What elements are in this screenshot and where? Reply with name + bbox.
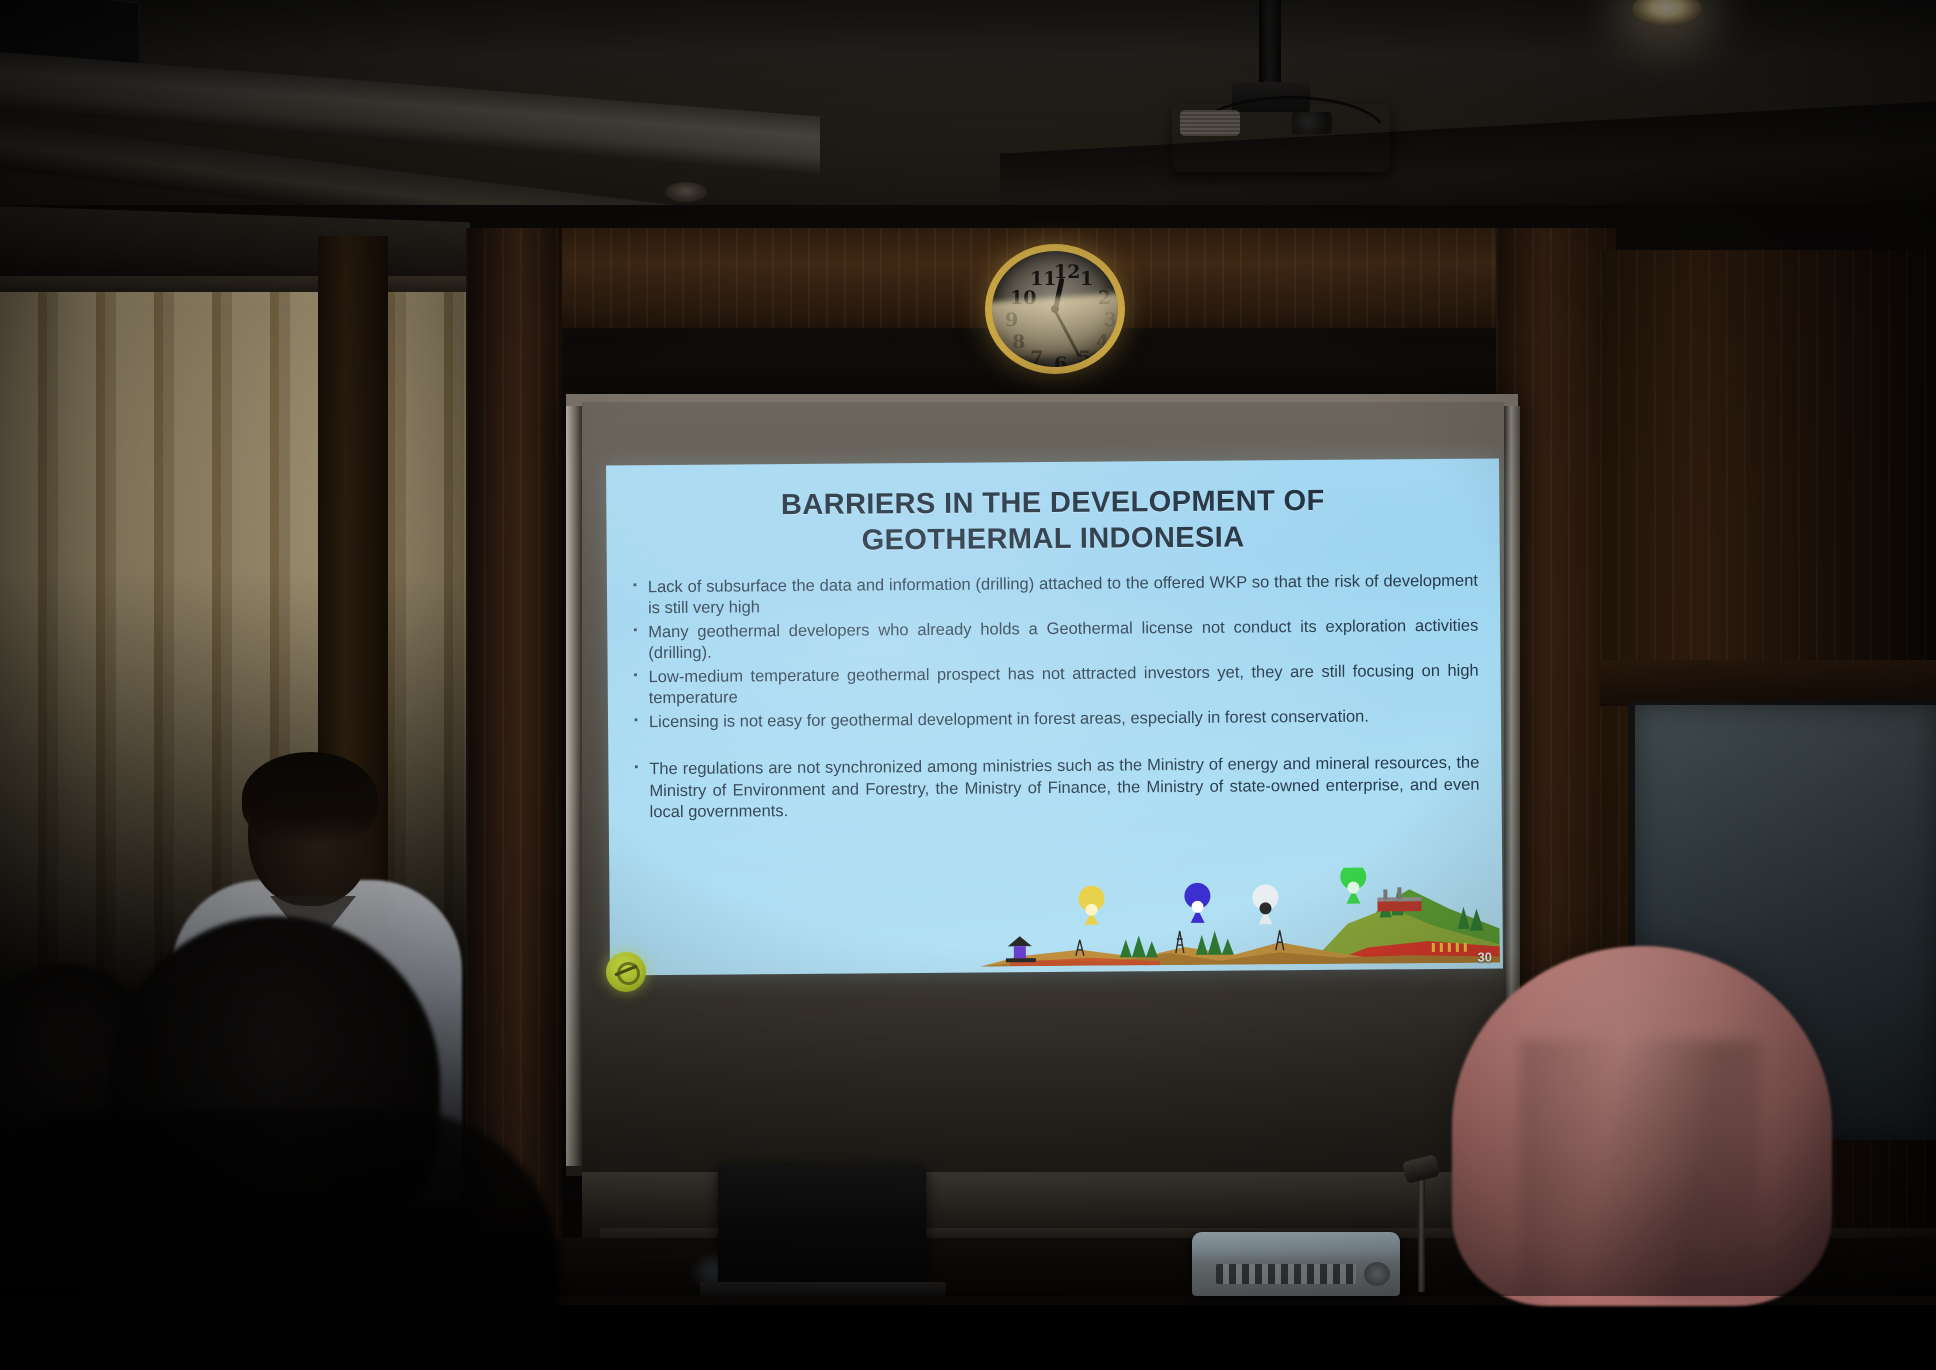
slide-bullet-item: ▪ Low-medium temperature geothermal pros… (634, 660, 1479, 710)
audience-silhouette-mass (0, 1110, 560, 1370)
slide-bullet-item: ▪ Licensing is not easy for geothermal d… (634, 705, 1479, 733)
presenter-laptop[interactable] (718, 1164, 926, 1286)
bullet-marker-icon: ▪ (633, 577, 637, 620)
ceiling-downlight (665, 182, 707, 202)
bullet-text: Many geothermal developers who already h… (648, 616, 1478, 665)
bullet-marker-icon: ▪ (634, 667, 638, 710)
slide-title-line-2: GEOTHERMAL INDONESIA (606, 518, 1499, 561)
slide-bullet-list: ▪ Lack of subsurface the data and inform… (633, 571, 1480, 826)
geothermal-landscape-illustration (979, 867, 1500, 967)
bullet-text: The regulations are not synchronized amo… (649, 753, 1480, 824)
hijab-fold-shading (1520, 1040, 1760, 1300)
bullet-text: Licensing is not easy for geothermal dev… (649, 705, 1479, 733)
bullet-marker-icon: ▪ (633, 622, 637, 665)
slide-bullet-item: ▪ Lack of subsurface the data and inform… (633, 571, 1478, 621)
bullet-marker-icon: ▪ (634, 712, 638, 733)
clock-numeral: 12 (1054, 263, 1080, 282)
microphone-stand (1418, 1168, 1425, 1292)
presentation-slide: BARRIERS IN THE DEVELOPMENT OF GEOTHERMA… (606, 459, 1503, 976)
audience-foreground-left (0, 940, 580, 1340)
slide-bullet-item: ▪ The regulations are not synchronized a… (634, 753, 1479, 824)
projector-lens (1292, 112, 1332, 134)
presenter-hair (242, 752, 378, 844)
slide-corner-logo (606, 952, 646, 992)
slide-bullet-item: ▪ Many geothermal developers who already… (633, 616, 1478, 666)
conference-room-scene: 12 1 2 3 4 5 6 7 8 9 10 11 BARRIERS IN T… (0, 0, 1936, 1296)
slide-page-number: 30 (1477, 950, 1492, 965)
wall-clock: 12 1 2 3 4 5 6 7 8 9 10 11 (985, 244, 1125, 374)
laptop-base (700, 1282, 946, 1296)
ceiling-downlight-lit (1632, 0, 1702, 26)
table-projector-speaker (1364, 1262, 1390, 1286)
clock-glass-glare (985, 291, 1125, 360)
projector-vent (1180, 110, 1240, 136)
table-projector-ports (1216, 1264, 1356, 1284)
bullet-text: Low-medium temperature geothermal prospe… (649, 660, 1479, 709)
clock-numeral: 6 (1054, 355, 1067, 374)
bullet-marker-icon: ▪ (634, 759, 638, 823)
slide-title: BARRIERS IN THE DEVELOPMENT OF GEOTHERMA… (606, 483, 1500, 562)
clock-numeral: 11 (1030, 270, 1056, 289)
projector-mount-pole (1259, 0, 1281, 92)
clock-numeral: 1 (1080, 270, 1093, 289)
bullet-text: Lack of subsurface the data and informat… (648, 571, 1478, 620)
